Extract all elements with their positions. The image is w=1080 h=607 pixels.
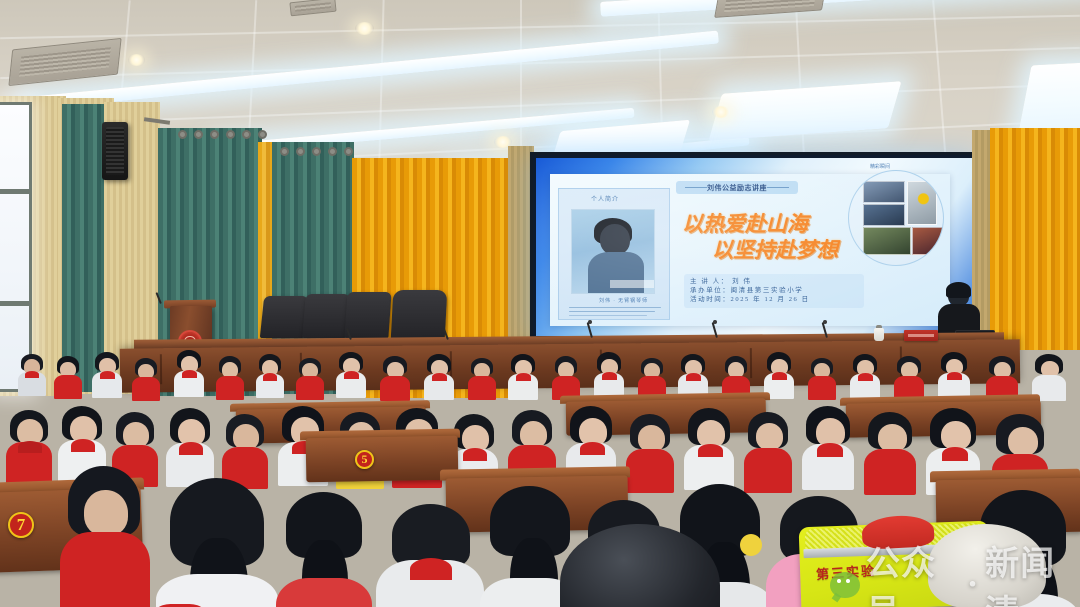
student — [92, 352, 122, 396]
hvac-vent — [8, 38, 121, 86]
student — [256, 354, 284, 396]
watermark-separator: · — [967, 566, 979, 604]
table-nameplate — [904, 330, 938, 341]
student-foreground — [276, 492, 372, 607]
slide-header-text: 刘伟公益励志讲座 — [707, 183, 767, 193]
student-foreground — [150, 478, 280, 607]
water-bottle[interactable] — [874, 328, 884, 341]
stage-chair[interactable] — [344, 292, 391, 338]
student-foreground — [60, 466, 150, 607]
student — [336, 352, 366, 396]
slide-header-banner: 刘伟公益励志讲座 — [676, 181, 798, 194]
student — [18, 354, 46, 394]
bio-panel: 个人简介 刘伟 · 无臂钢琴师 — [558, 188, 670, 320]
info-line-date: 活动时间：2025 年 12 月 26 日 — [690, 295, 858, 304]
photo-collage — [848, 170, 944, 266]
curtain-grommets — [178, 130, 267, 139]
channel-watermark: 公众号 · 新闻清 — [830, 536, 1080, 607]
info-line-organizer: 承办单位：闽清县第三实验小学 — [690, 286, 858, 295]
auditorium-photo: 刘伟公益励志讲座 个人简介 刘伟 · 无臂钢琴师 — [0, 0, 1080, 607]
stage-chair[interactable] — [260, 296, 308, 338]
bio-caption: 刘伟 · 无臂钢琴师 — [599, 297, 648, 304]
student-foreground — [376, 504, 484, 607]
ceiling-fixture — [289, 0, 336, 16]
downlight — [355, 22, 374, 35]
info-line-presenter: 主 讲 人： 刘 伟 — [690, 277, 858, 286]
watermark-channel-name: 新闻清 — [985, 536, 1080, 607]
stage-chair[interactable] — [391, 290, 448, 340]
collage-caption: 精彩瞬间 — [870, 163, 890, 170]
bio-panel-title: 个人简介 — [591, 194, 619, 203]
slide-info-box: 主 讲 人： 刘 伟 承办单位：闽清县第三实验小学 活动时间：2025 年 12… — [684, 274, 864, 308]
student — [54, 356, 82, 396]
downlight — [712, 106, 730, 118]
projection-screen[interactable]: 刘伟公益励志讲座 个人简介 刘伟 · 无臂钢琴师 — [530, 152, 978, 342]
wall-speaker — [102, 122, 128, 180]
wechat-logo-icon — [830, 572, 860, 598]
slide-title-line-2: 以坚持赴梦想 — [712, 234, 838, 264]
downlight — [128, 54, 145, 66]
bio-text-lines — [569, 307, 661, 319]
watermark-account-label: 公众号 — [866, 536, 961, 607]
speaker-portrait — [571, 209, 655, 294]
presentation-slide: 刘伟公益励志讲座 个人简介 刘伟 · 无臂钢琴师 — [536, 158, 972, 336]
hvac-vent — [714, 0, 826, 18]
curtain-grommets — [280, 147, 353, 156]
ceiling-panel-light — [708, 81, 901, 141]
stage-chair[interactable] — [302, 294, 350, 338]
student — [174, 350, 204, 396]
ceiling-strip-light — [600, 0, 1080, 17]
curtain-orange-right — [990, 128, 1080, 350]
